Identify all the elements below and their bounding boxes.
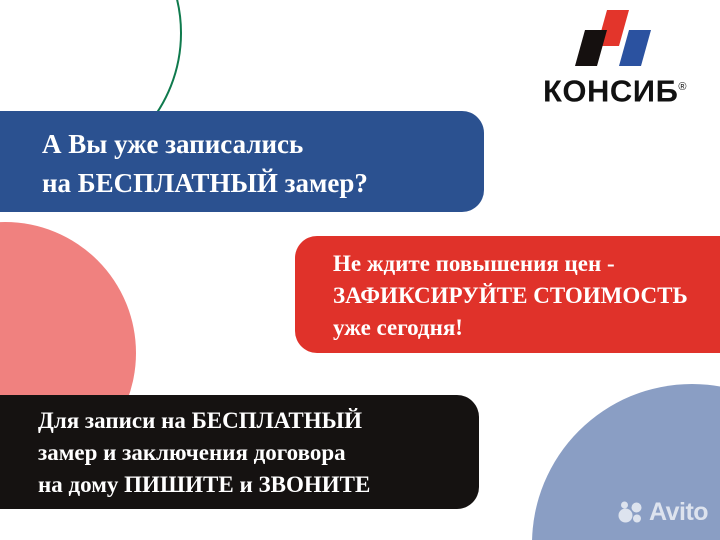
blue-callout-box: А Вы уже записались на БЕСПЛАТНЫЙ замер? — [0, 111, 484, 212]
red-callout-line-2: ЗАФИКСИРУЙТЕ СТОИМОСТЬ — [333, 280, 720, 312]
blue-callout-line-1: А Вы уже записались — [42, 125, 484, 164]
red-callout-line-3: уже сегодня! — [333, 312, 720, 344]
black-callout-line-2: замер и заключения договора — [38, 437, 479, 469]
logo-parallelograms-icon — [567, 8, 663, 70]
konsib-logo-mark — [526, 8, 704, 70]
poster-canvas: КОНСИБ® А Вы уже записались на БЕСПЛАТНЫ… — [0, 0, 720, 540]
konsib-wordmark-text: КОНСИБ — [543, 73, 678, 108]
registered-trademark-symbol: ® — [678, 81, 687, 93]
avito-dots-icon — [618, 501, 644, 525]
konsib-logo: КОНСИБ® — [526, 8, 704, 108]
red-callout-line-1: Не ждите повышения цен - — [333, 248, 720, 280]
konsib-wordmark: КОНСИБ® — [526, 70, 704, 108]
red-callout-box: Не ждите повышения цен - ЗАФИКСИРУЙТЕ СТ… — [295, 236, 720, 353]
blue-callout-line-2: на БЕСПЛАТНЫЙ замер? — [42, 164, 484, 203]
black-callout-box: Для записи на БЕСПЛАТНЫЙ замер и заключе… — [0, 395, 479, 509]
black-callout-line-1: Для записи на БЕСПЛАТНЫЙ — [38, 405, 479, 437]
avito-watermark-label: Avito — [649, 500, 708, 525]
black-callout-line-3: на дому ПИШИТЕ и ЗВОНИТЕ — [38, 469, 479, 501]
avito-watermark: Avito — [618, 500, 708, 525]
